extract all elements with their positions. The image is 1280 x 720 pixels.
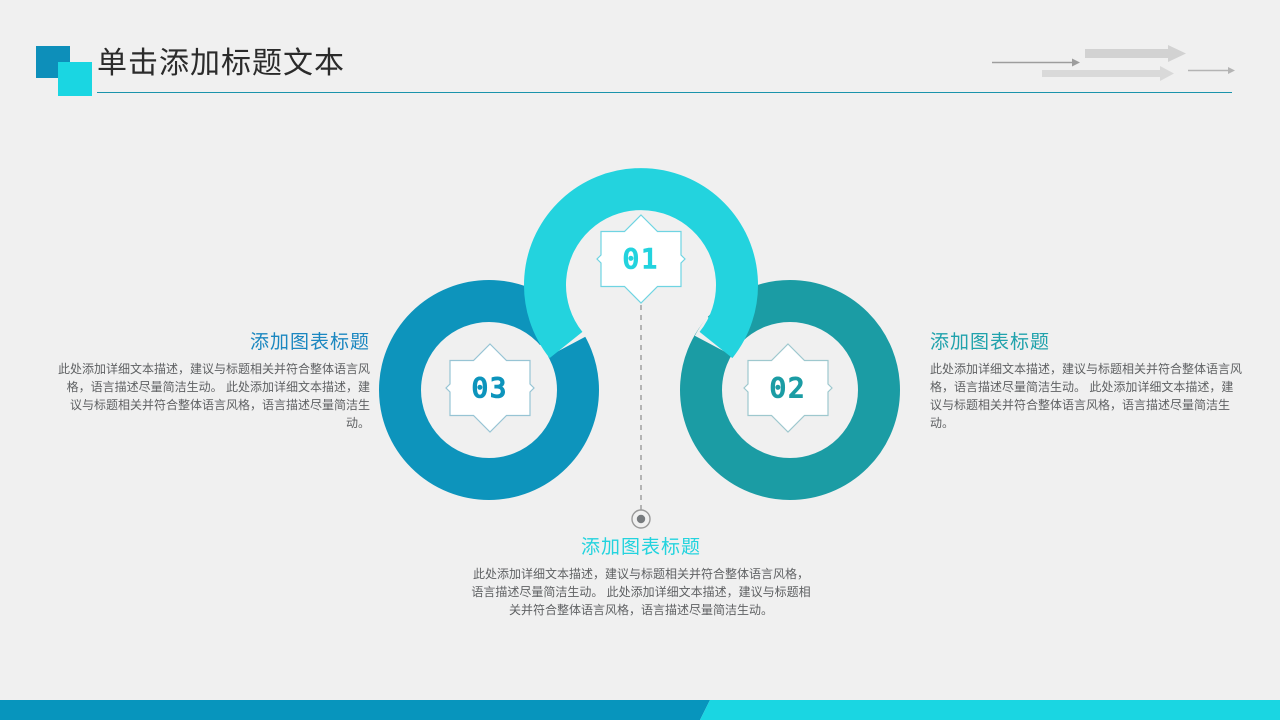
header-logo-mark: [36, 46, 98, 98]
badge-01-number: 01: [595, 213, 687, 305]
text-block-left: 添加图表标题 此处添加详细文本描述，建议与标题相关并符合整体语言风格，语言描述尽…: [58, 330, 370, 432]
badge-01[interactable]: 01: [595, 213, 687, 305]
text-block-right-title: 添加图表标题: [930, 330, 1242, 356]
badge-03[interactable]: 03: [444, 342, 536, 434]
badge-03-number: 03: [444, 342, 536, 434]
connector-marker-dot: [637, 515, 645, 523]
footer-bar-right: [700, 700, 1280, 720]
header-square-front-icon: [58, 62, 92, 96]
decorative-arrows-group: [990, 44, 1240, 90]
arrow-right-thin-long-icon: [992, 59, 1080, 67]
arrow-right-thin-short-icon: [1188, 67, 1235, 74]
header-underline: [97, 92, 1232, 93]
text-block-left-title: 添加图表标题: [58, 330, 370, 356]
arrow-right-thick-long-icon: [1085, 45, 1186, 62]
text-block-bottom: 添加图表标题 此处添加详细文本描述，建议与标题相关并符合整体语言风格，语言描述尽…: [470, 535, 812, 619]
connector-marker-ring: [632, 510, 650, 528]
footer-bar: [0, 700, 1280, 720]
slide-canvas: 单击添加标题文本: [0, 0, 1280, 720]
arrow-right-thick-medium-icon: [1042, 66, 1174, 81]
badge-02[interactable]: 02: [742, 342, 834, 434]
text-block-bottom-title: 添加图表标题: [470, 535, 812, 561]
footer-bar-left: [0, 700, 710, 720]
text-block-right-body: 此处添加详细文本描述，建议与标题相关并符合整体语言风格，语言描述尽量简洁生动。 …: [930, 360, 1242, 432]
page-title: 单击添加标题文本: [97, 44, 345, 84]
badge-02-number: 02: [742, 342, 834, 434]
ring-02-gap: [716, 332, 726, 347]
text-block-right: 添加图表标题 此处添加详细文本描述，建议与标题相关并符合整体语言风格，语言描述尽…: [930, 330, 1242, 432]
text-block-bottom-body: 此处添加详细文本描述，建议与标题相关并符合整体语言风格，语言描述尽量简洁生动。 …: [470, 565, 812, 619]
text-block-left-body: 此处添加详细文本描述，建议与标题相关并符合整体语言风格，语言描述尽量简洁生动。 …: [58, 360, 370, 432]
ring-03-gap: [556, 332, 566, 347]
